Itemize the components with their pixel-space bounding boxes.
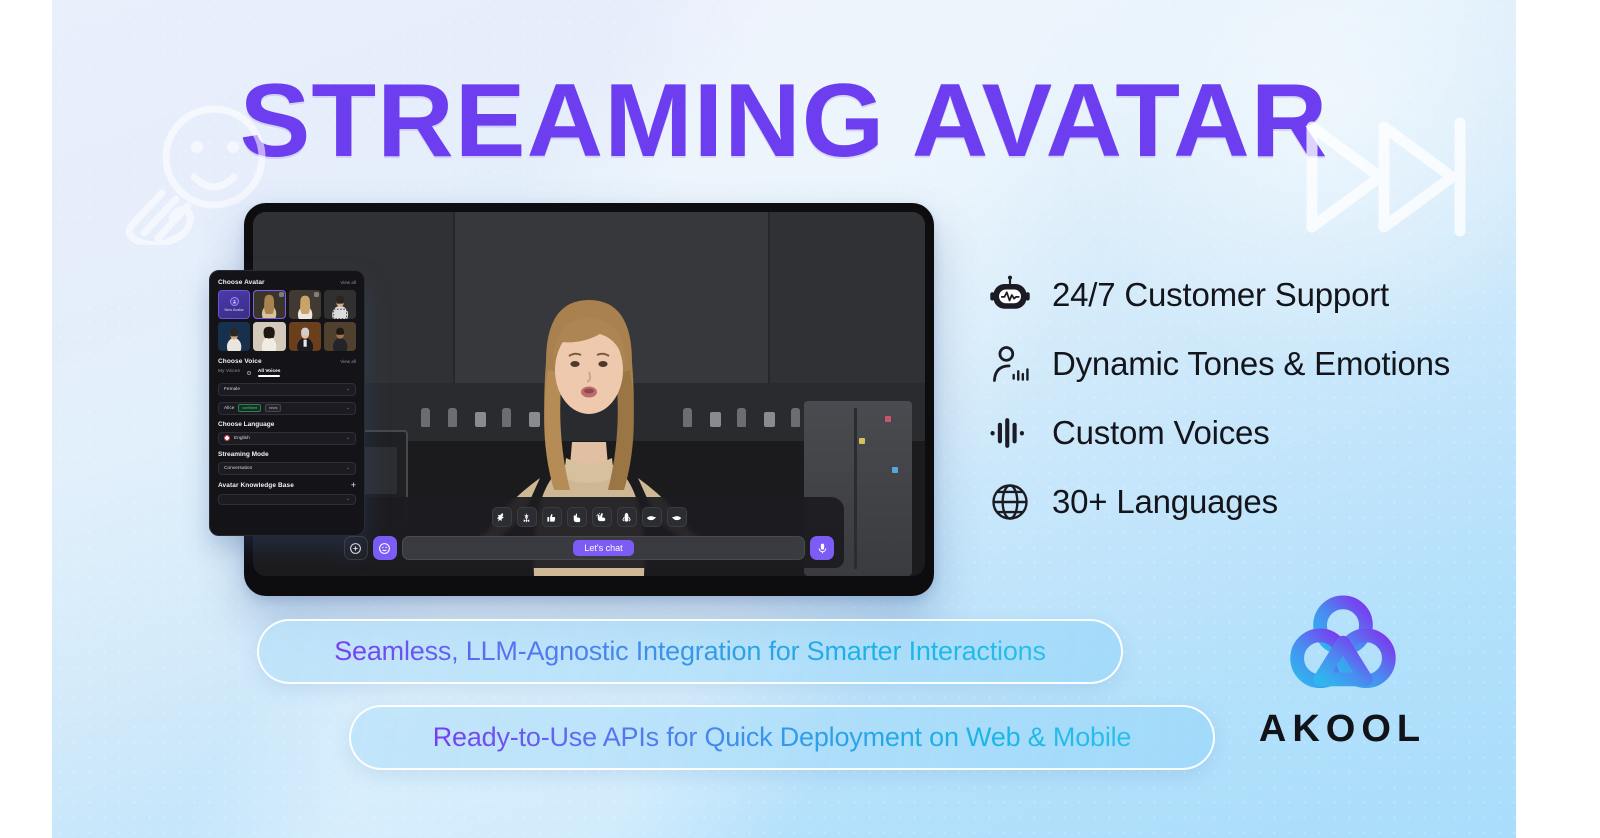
voice-view-all-link[interactable]: View all [340,359,356,364]
chevron-down-icon: ⌄ [346,386,350,392]
language-value: English [234,436,250,441]
tab-my-voices[interactable]: My Voices [218,369,240,377]
globe-icon [987,479,1033,525]
my-voices-radio[interactable] [247,371,251,375]
chevron-down-icon: ⌄ [346,465,350,471]
voice-gender-select[interactable]: Female ⌄ [218,383,356,396]
highlight-pill-apis: Ready-to-Use APIs for Quick Deployment o… [349,705,1215,770]
feature-item-languages: 30+ Languages [987,479,1450,525]
promo-banner: STREAMING AVATAR [52,0,1516,838]
feature-list: 24/7 Customer Support Dynamic Tones & Em… [987,272,1450,525]
choose-voice-header: Choose Voice View all [218,358,356,365]
new-avatar-label: New Avatar [224,308,243,312]
avatar-thumb-6[interactable] [289,322,321,351]
choose-avatar-header: Choose Avatar View all [218,279,356,286]
avatar-thumb-2[interactable] [289,290,321,319]
voice-name-select[interactable]: Alice confident news ⌄ [218,402,356,415]
choose-language-title: Choose Language [218,421,356,428]
avatar-view-all-link[interactable]: View all [340,280,356,285]
feature-item-voices: Custom Voices [987,410,1450,456]
avatar-thumb-1[interactable] [253,290,285,319]
avatar-thumb-3[interactable] [324,290,356,319]
feature-item-support: 24/7 Customer Support [987,272,1450,318]
streaming-mode-value: Conversation [224,466,252,471]
akool-cloud-logo [1288,592,1398,697]
choose-avatar-title: Choose Avatar [218,279,265,286]
add-knowledge-icon[interactable]: + [351,481,356,490]
highlight-pill-integration: Seamless, LLM-Agnostic Integration for S… [257,619,1123,684]
knowledge-base-title: Avatar Knowledge Base [218,482,294,489]
chat-input-row: Let's chat [344,536,835,560]
audio-waveform-icon [987,410,1033,456]
choose-voice-title: Choose Voice [218,358,262,365]
gesture-celebrate-icon[interactable] [517,507,537,527]
feature-label: 30+ Languages [1052,483,1278,521]
pill-text: Ready-to-Use APIs for Quick Deployment o… [433,722,1132,753]
chevron-down-icon: ⌄ [346,435,350,441]
avatar-thumb-7[interactable] [324,322,356,351]
chevron-down-icon: ⌄ [346,496,350,502]
chat-input-field[interactable]: Let's chat [402,536,806,560]
gesture-point-icon[interactable] [567,507,587,527]
streaming-mode-title: Streaming Mode [218,451,356,458]
lets-chat-pill: Let's chat [573,540,633,556]
pill-text: Seamless, LLM-Agnostic Integration for S… [334,636,1046,667]
akool-wordmark: AKOOL [1250,708,1435,751]
gesture-clap-icon[interactable] [592,507,612,527]
voice-gender-value: Female [224,387,240,392]
person-waveform-icon [987,341,1033,387]
tab-all-voices[interactable]: All Voices [258,369,281,377]
voice-name-value: Alice [224,406,234,411]
avatar-settings-panel: Choose Avatar View all New Avatar [209,270,365,536]
avatar-badge [314,292,319,297]
avatar-badge [279,292,284,297]
avatar-thumb-5[interactable] [253,322,285,351]
new-avatar-tile[interactable]: New Avatar [218,290,250,319]
emoji-icon[interactable] [373,536,397,560]
streaming-mode-select[interactable]: Conversation ⌄ [218,462,356,475]
language-select[interactable]: English ⌄ [218,432,356,445]
feature-label: Custom Voices [1052,414,1270,452]
avatar-grid: New Avatar [218,290,356,351]
feature-label: Dynamic Tones & Emotions [1052,345,1450,383]
gesture-thumbs-up-icon[interactable] [542,507,562,527]
feature-item-tones: Dynamic Tones & Emotions [987,341,1450,387]
robot-support-icon [987,272,1033,318]
gesture-present-icon[interactable] [667,507,687,527]
feature-label: 24/7 Customer Support [1052,276,1389,314]
avatar-thumb-4[interactable] [218,322,250,351]
gesture-open-hand-icon[interactable] [642,507,662,527]
gesture-pray-icon[interactable] [617,507,637,527]
gesture-wave-icon[interactable] [492,507,512,527]
voice-tag-confident: confident [238,404,261,412]
new-avatar-icon [230,297,239,306]
page-title: STREAMING AVATAR [52,62,1516,181]
microphone-icon[interactable] [810,536,834,560]
brand-logo: AKOOL [1250,592,1435,751]
knowledge-base-header: Avatar Knowledge Base + [218,481,356,490]
voice-tag-news: news [265,404,281,412]
chat-control-bar: Let's chat [334,497,845,568]
chevron-down-icon: ⌄ [346,405,350,411]
voice-tabs: My Voices All Voices [218,369,356,377]
knowledge-base-select[interactable]: ⌄ [218,494,356,505]
flag-icon [224,435,230,441]
add-icon[interactable] [344,536,368,560]
gesture-row [344,507,835,527]
